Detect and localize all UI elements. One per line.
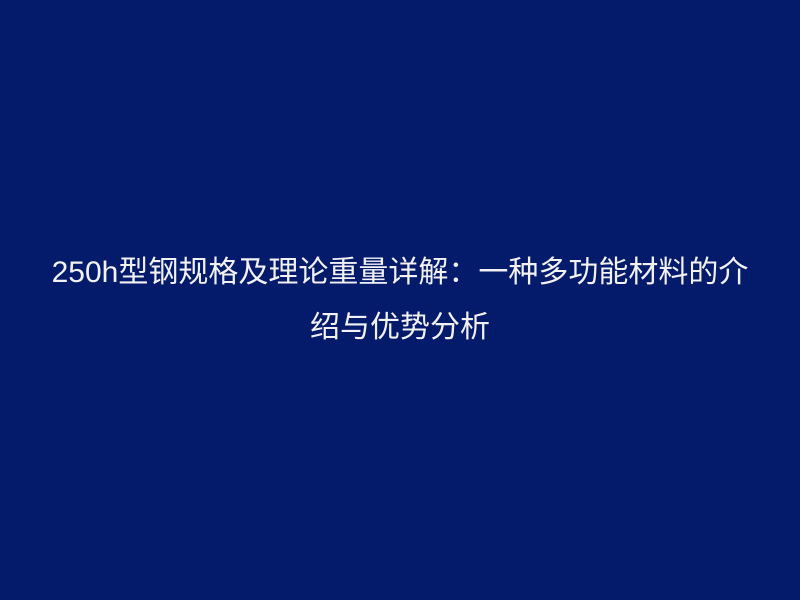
title-block: 250h型钢规格及理论重量详解：一种多功能材料的介绍与优势分析 (0, 0, 800, 600)
title-banner: 250h型钢规格及理论重量详解：一种多功能材料的介绍与优势分析 (0, 0, 800, 600)
page-title: 250h型钢规格及理论重量详解：一种多功能材料的介绍与优势分析 (45, 245, 755, 355)
